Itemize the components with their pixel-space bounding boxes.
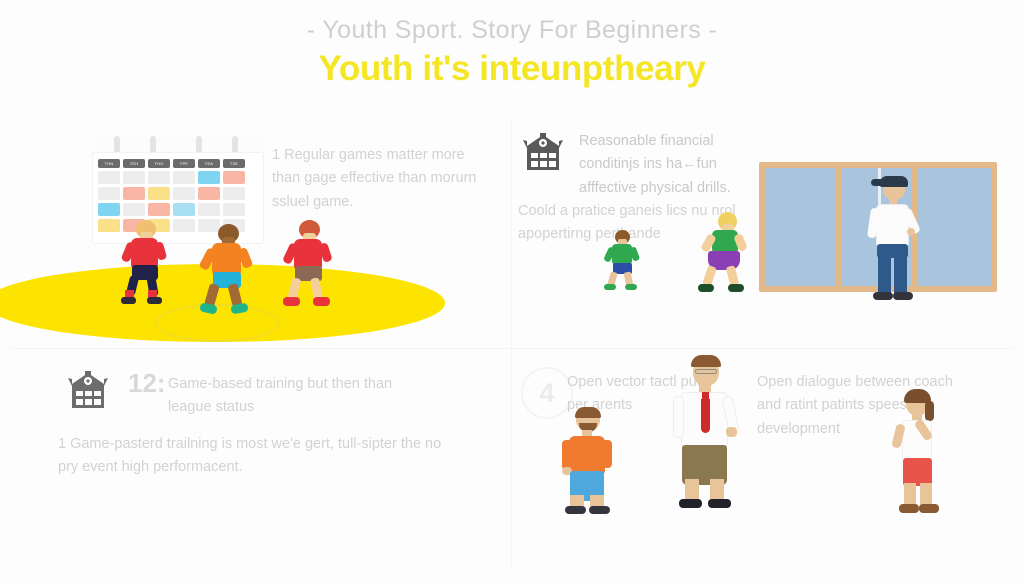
girl-running-purple — [696, 212, 752, 294]
top-left-body: 1 Regular games matter more than gage ef… — [272, 144, 477, 214]
quadrant-bottom-left: 12: Game-based training but then than le… — [0, 349, 511, 585]
calendar-day-cell — [223, 203, 245, 216]
calendar-day-header: THO — [148, 159, 170, 168]
woman-white-tank-red-shorts — [889, 391, 945, 523]
man-white-shirt-red-tie — [669, 353, 741, 518]
calendar-day-cell — [98, 219, 120, 232]
bottom-left-body: 1 Game-pasterd trailning is most we'e ge… — [58, 433, 458, 480]
calendar-day-cell — [123, 203, 145, 216]
calendar-day-cell — [148, 187, 170, 200]
calendar-day-cell — [173, 219, 195, 232]
calendar-day-header: TEH — [123, 159, 145, 168]
calendar-day-header: THN — [98, 159, 120, 168]
quadrant-top-left: THN TEH THO TPE TEA TZE — [0, 112, 511, 348]
calendar-day-cell — [198, 203, 220, 216]
calendar-day-cell — [198, 187, 220, 200]
step-number-badge: 12: — [128, 368, 166, 399]
calendar-week-row — [98, 203, 258, 216]
calendar-day-cell — [173, 203, 195, 216]
kid-running-orange-center — [198, 224, 258, 316]
calendar-day-header: TZE — [223, 159, 245, 168]
calendar-day-cell — [173, 171, 195, 184]
quadrant-bottom-right: 4 Open vector tactl pues per arents Open… — [511, 349, 1024, 585]
top-right-heading: Reasonable financial conditinjs ins ha←f… — [579, 130, 757, 200]
calendar-day-cell — [148, 203, 170, 216]
man-orange-shirt — [556, 407, 618, 519]
page-title: Youth it's inteunptheary — [0, 49, 1024, 89]
calendar-day-cell — [98, 171, 120, 184]
stadium-icon — [521, 132, 565, 174]
calendar-day-header: TEA — [198, 159, 220, 168]
kid-running-green — [603, 230, 643, 292]
calendar-day-cell — [223, 187, 245, 200]
coach-standing — [863, 172, 923, 306]
calendar-day-cell — [148, 171, 170, 184]
calendar-day-cell — [173, 187, 195, 200]
eyebrow-text: - Youth Sport. Story For Beginners - — [0, 16, 1024, 45]
calendar-day-header: TPE — [173, 159, 195, 168]
kid-running-red-right — [282, 220, 338, 308]
calendar-week-row — [98, 171, 258, 184]
quadrant-top-right: Reasonable financial conditinjs ins ha←f… — [511, 112, 1024, 348]
calendar-day-cell — [123, 171, 145, 184]
stadium-icon — [66, 370, 110, 412]
kid-running-red-left — [118, 220, 172, 304]
window-mullion — [835, 162, 841, 292]
bottom-left-heading: Game-based training but then than league… — [168, 373, 438, 420]
calendar-day-cell — [198, 171, 220, 184]
calendar-header-row: THN TEH THO TPE TEA TZE — [98, 159, 258, 168]
calendar-week-row — [98, 187, 258, 200]
calendar-rings — [92, 134, 264, 152]
slide-canvas: - Youth Sport. Story For Beginners - You… — [0, 0, 1024, 585]
calendar-day-cell — [98, 187, 120, 200]
calendar-day-cell — [123, 187, 145, 200]
calendar-day-cell — [98, 203, 120, 216]
calendar-day-cell — [223, 171, 245, 184]
slide-header: - Youth Sport. Story For Beginners - You… — [0, 0, 1024, 89]
